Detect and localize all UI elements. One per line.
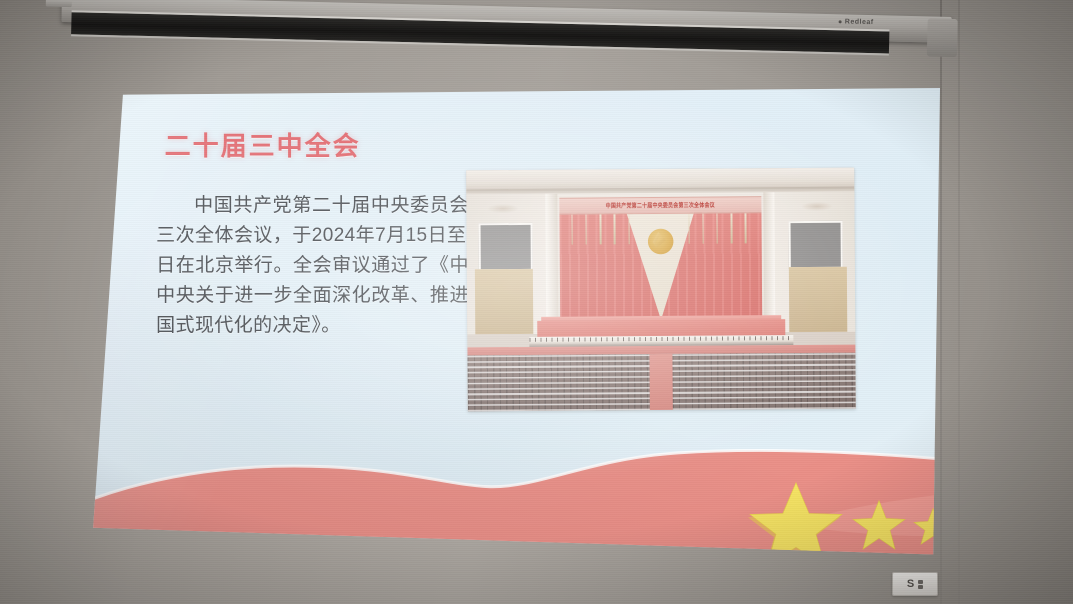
- sticker-dots-icon: [918, 580, 923, 589]
- powerpoint-slide: 二十届三中全会 中国共产党第二十届中央委员会第三次全体会议，于2024年7月15…: [88, 88, 940, 566]
- housing-bracket-left: [46, 0, 72, 7]
- photo-banner: 中国共产党第二十届中央委员会第三次全体会议: [560, 196, 762, 215]
- projection-area: 二十届三中全会 中国共产党第二十届中央委员会第三次全体会议，于2024年7月15…: [88, 88, 940, 566]
- photo-center-aisle: [650, 354, 674, 411]
- slide-decoration-wave: [88, 437, 940, 566]
- slide-body-text: 中国共产党第二十届中央委员会第三次全体会议，于2024年7月15日至18日在北京…: [156, 191, 488, 341]
- photo-wood-panel-right: [789, 267, 848, 333]
- photo-wall-screen-right: [788, 221, 843, 269]
- wall-sticker: S: [892, 572, 938, 596]
- slide-title: 二十届三中全会: [165, 126, 361, 163]
- sticker-glyph: S: [907, 579, 914, 590]
- photo-wall-ornament-right: [802, 202, 833, 212]
- photo-pillar-left: [546, 194, 559, 334]
- photo-wood-panel-left: [475, 269, 534, 335]
- housing-endcap-right: [927, 18, 958, 57]
- photo-wall-ornament-left: [488, 204, 519, 214]
- brand-logo: Redleaf: [839, 18, 874, 26]
- wall-seam-secondary: [958, 0, 960, 604]
- photo-wall-screen-left: [478, 223, 533, 271]
- classroom-scene: Redleaf 二十届三中全会 中国共产党第二十届中央委员会第三次全体会议，于2…: [0, 0, 1073, 604]
- photo-pillar-right: [763, 193, 776, 333]
- photo-banner-text: 中国共产党第二十届中央委员会第三次全体会议: [606, 201, 715, 211]
- brand-label: Redleaf: [845, 18, 874, 26]
- conference-hall-photo: 中国共产党第二十届中央委员会第三次全体会议: [466, 168, 855, 412]
- wall-seam: [940, 0, 942, 604]
